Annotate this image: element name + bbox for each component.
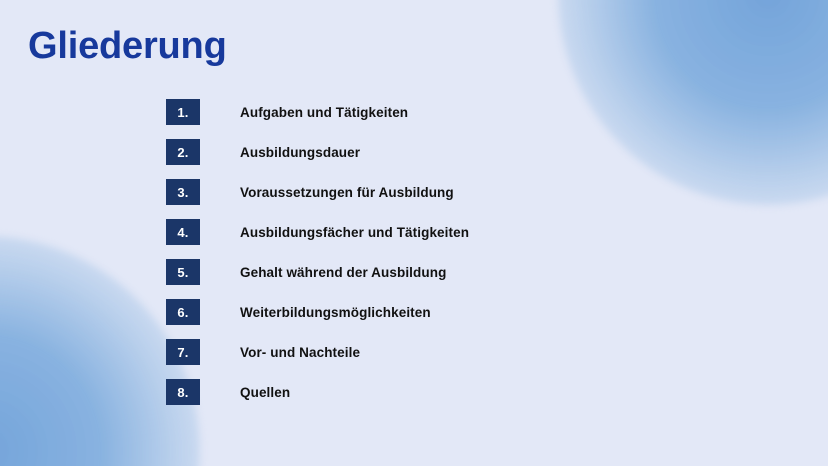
item-number-badge: 4. xyxy=(166,219,200,245)
item-label: Weiterbildungsmöglichkeiten xyxy=(240,299,431,325)
list-item[interactable]: 8. Quellen xyxy=(166,379,766,405)
item-label: Quellen xyxy=(240,379,290,405)
item-number-badge: 2. xyxy=(166,139,200,165)
item-label: Gehalt während der Ausbildung xyxy=(240,259,446,285)
list-item[interactable]: 3. Voraussetzungen für Ausbildung xyxy=(166,179,766,205)
list-item[interactable]: 5. Gehalt während der Ausbildung xyxy=(166,259,766,285)
list-item[interactable]: 7. Vor- und Nachteile xyxy=(166,339,766,365)
item-label: Vor- und Nachteile xyxy=(240,339,360,365)
list-item[interactable]: 1. Aufgaben und Tätigkeiten xyxy=(166,99,766,125)
page-title: Gliederung xyxy=(28,26,227,68)
item-number-badge: 8. xyxy=(166,379,200,405)
item-label: Ausbildungsfächer und Tätigkeiten xyxy=(240,219,469,245)
list-item[interactable]: 6. Weiterbildungsmöglichkeiten xyxy=(166,299,766,325)
item-number-badge: 5. xyxy=(166,259,200,285)
agenda-list: 1. Aufgaben und Tätigkeiten 2. Ausbildun… xyxy=(166,99,766,419)
item-number-badge: 7. xyxy=(166,339,200,365)
presentation-slide: Gliederung 1. Aufgaben und Tätigkeiten 2… xyxy=(0,0,828,466)
item-number-badge: 3. xyxy=(166,179,200,205)
item-label: Aufgaben und Tätigkeiten xyxy=(240,99,408,125)
list-item[interactable]: 2. Ausbildungsdauer xyxy=(166,139,766,165)
item-label: Voraussetzungen für Ausbildung xyxy=(240,179,454,205)
item-label: Ausbildungsdauer xyxy=(240,139,360,165)
item-number-badge: 1. xyxy=(166,99,200,125)
list-item[interactable]: 4. Ausbildungsfächer und Tätigkeiten xyxy=(166,219,766,245)
item-number-badge: 6. xyxy=(166,299,200,325)
